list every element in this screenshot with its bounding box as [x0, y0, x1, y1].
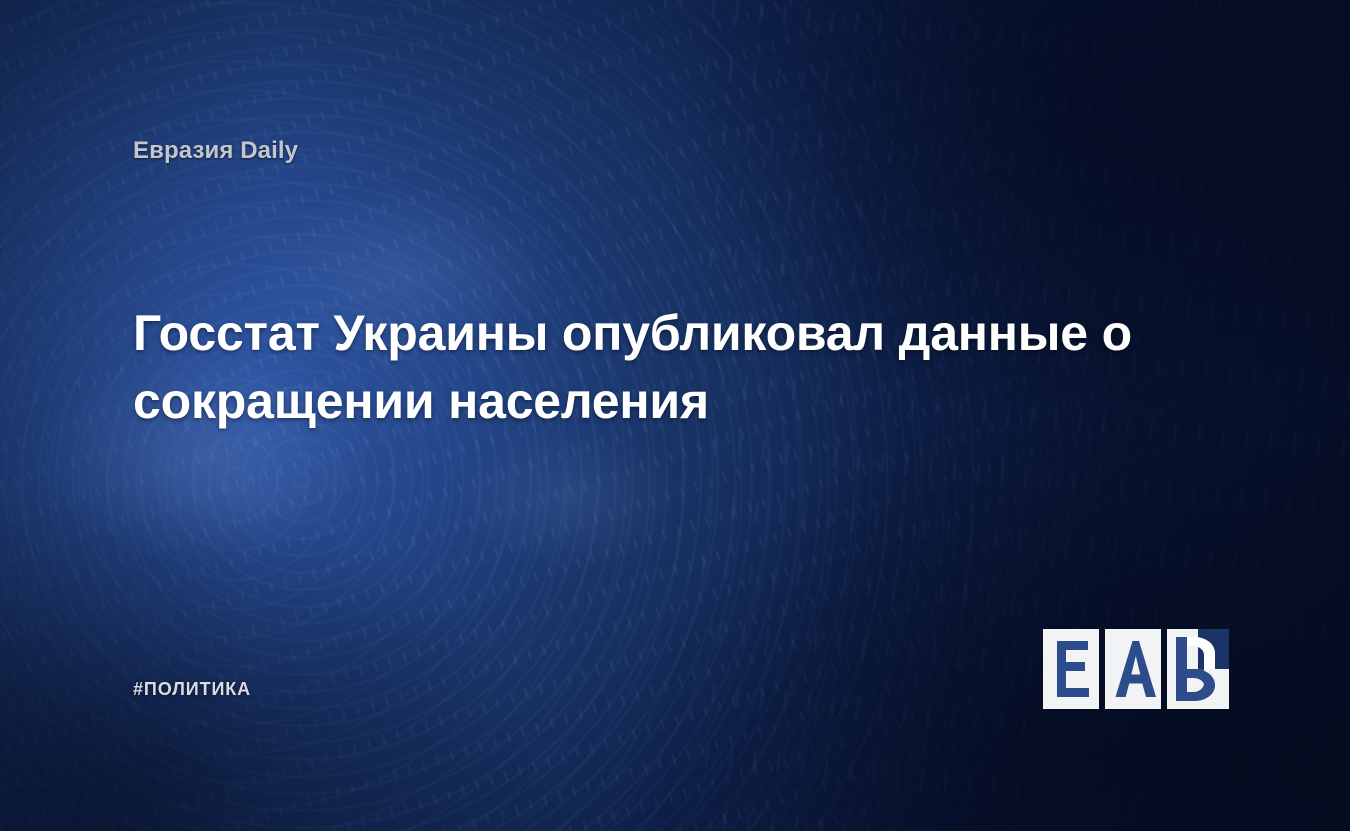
card-content: Евразия Daily Госстат Украины опубликова…	[0, 0, 1350, 831]
news-share-card: Евразия Daily Госстат Украины опубликова…	[0, 0, 1350, 831]
logo-tile-a	[1105, 629, 1161, 709]
logo-tile-e	[1043, 629, 1099, 709]
logo-tile-d	[1167, 629, 1229, 709]
ead-logo[interactable]	[1043, 625, 1229, 713]
page-title: Госстат Украины опубликовал данные о сок…	[133, 299, 1208, 435]
category-tag[interactable]: #ПОЛИТИКА	[133, 679, 251, 700]
brand-title: Евразия Daily	[133, 137, 298, 165]
